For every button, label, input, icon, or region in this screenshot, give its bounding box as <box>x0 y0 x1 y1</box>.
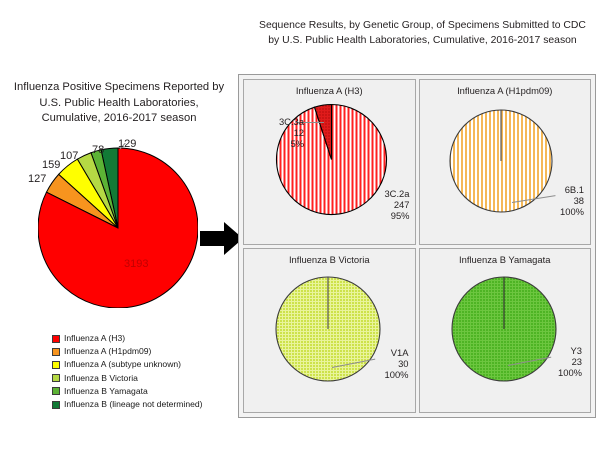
sequence-results-title-line-1: Sequence Results, by Genetic Group, of S… <box>250 18 595 33</box>
callout-3c2a: 3C.2a 247 95% <box>384 188 409 221</box>
main-pie-title-line-2: U.S. Public Health Laboratories, <box>4 96 234 112</box>
h1pdm09-pie-svg <box>446 106 556 216</box>
callout-group: 3C.3a <box>248 116 304 127</box>
legend-label: Influenza A (H1pdm09) <box>64 347 151 356</box>
callout-group: 3C.2a <box>384 188 409 199</box>
genetic-group-panel-frame: Influenza A (H3) <box>238 74 596 418</box>
legend-label: Influenza B (lineage not determined) <box>64 400 203 409</box>
callout-y3: Y3 23 100% <box>558 345 582 378</box>
callout-v1a: V1A 30 100% <box>385 347 409 380</box>
legend-swatch-icon <box>52 348 60 356</box>
main-pie-value-78: 78 <box>92 144 104 156</box>
panel-title: Influenza B Victoria <box>244 254 415 265</box>
main-pie-value-3193: 3193 <box>124 258 148 270</box>
panel-influenza-a-h3: Influenza A (H3) <box>243 79 416 245</box>
main-pie-title-line-3: Cumulative, 2016-2017 season <box>4 111 234 127</box>
callout-3c3a: 3C.3a 12 5% <box>248 116 304 149</box>
sequence-results-title: Sequence Results, by Genetic Group, of S… <box>250 18 595 48</box>
legend-swatch-icon <box>52 335 60 343</box>
legend-item-influenza-b-yamagata: Influenza B Yamagata <box>52 385 203 398</box>
genetic-group-panel-grid: Influenza A (H3) <box>243 79 591 413</box>
legend-item-influenza-a-subtype-unknown: Influenza A (subtype unknown) <box>52 358 203 371</box>
callout-percent: 100% <box>560 206 584 217</box>
main-pie-value-107: 107 <box>60 150 78 162</box>
panel-title: Influenza A (H3) <box>244 85 415 96</box>
legend-label: Influenza A (H3) <box>64 334 125 343</box>
legend-label: Influenza A (subtype unknown) <box>64 360 181 369</box>
main-pie-value-127: 127 <box>28 173 46 185</box>
legend: Influenza A (H3) Influenza A (H1pdm09) I… <box>52 332 203 411</box>
panel-title: Influenza B Yamagata <box>420 254 591 265</box>
callout-percent: 100% <box>385 369 409 380</box>
main-pie-chart <box>38 143 198 308</box>
slide-root: Influenza Positive Specimens Reported by… <box>0 0 600 450</box>
legend-label: Influenza B Victoria <box>64 374 138 383</box>
legend-label: Influenza B Yamagata <box>64 387 148 396</box>
callout-percent: 5% <box>248 138 304 149</box>
panel-influenza-b-yamagata: Influenza B Yamagata Y3 <box>419 248 592 414</box>
legend-item-influenza-a-h3: Influenza A (H3) <box>52 332 203 345</box>
panel-influenza-a-h1pdm09: Influenza A (H1pdm09) 6B. <box>419 79 592 245</box>
callout-count: 23 <box>558 356 582 367</box>
main-pie-svg <box>38 143 198 308</box>
legend-swatch-icon <box>52 361 60 369</box>
callout-count: 38 <box>560 195 584 206</box>
b-victoria-pie-svg <box>272 273 384 385</box>
sequence-results-title-line-2: by U.S. Public Health Laboratories, Cumu… <box>250 33 595 48</box>
callout-count: 12 <box>248 127 304 138</box>
legend-item-influenza-b-lineage-not-determined: Influenza B (lineage not determined) <box>52 398 203 411</box>
panel-title: Influenza A (H1pdm09) <box>420 85 591 96</box>
panel-influenza-b-victoria: Influenza B Victoria V1A <box>243 248 416 414</box>
main-pie-title: Influenza Positive Specimens Reported by… <box>4 80 234 127</box>
legend-swatch-icon <box>52 401 60 409</box>
legend-item-influenza-a-h1pdm09: Influenza A (H1pdm09) <box>52 345 203 358</box>
callout-6b1: 6B.1 38 100% <box>560 184 584 217</box>
callout-percent: 95% <box>384 210 409 221</box>
legend-item-influenza-b-victoria: Influenza B Victoria <box>52 372 203 385</box>
callout-group: V1A <box>385 347 409 358</box>
callout-group: 6B.1 <box>560 184 584 195</box>
callout-count: 247 <box>384 199 409 210</box>
b-yamagata-pie-svg <box>448 273 560 385</box>
callout-count: 30 <box>385 358 409 369</box>
callout-percent: 100% <box>558 367 582 378</box>
main-pie-value-129: 129 <box>118 138 136 150</box>
main-pie-value-159: 159 <box>42 159 60 171</box>
callout-group: Y3 <box>558 345 582 356</box>
legend-swatch-icon <box>52 374 60 382</box>
legend-swatch-icon <box>52 387 60 395</box>
main-pie-title-line-1: Influenza Positive Specimens Reported by <box>4 80 234 96</box>
